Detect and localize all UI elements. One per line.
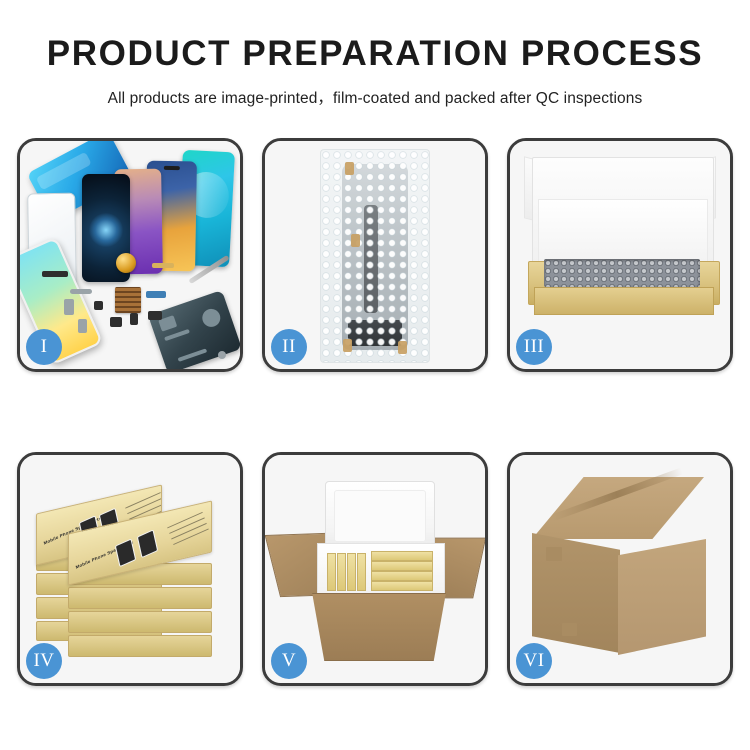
carton-right-face <box>618 539 706 655</box>
process-step-panel-1: I <box>17 138 243 372</box>
phone-back-housing-icon <box>148 290 240 369</box>
box-stack-edge-front-4 <box>68 611 212 633</box>
step-badge-5: V <box>271 643 307 679</box>
part-chip-3 <box>130 313 138 325</box>
part-bracket <box>78 319 87 333</box>
step-badge-4: IV <box>26 643 62 679</box>
carton-tab-upper <box>546 547 562 561</box>
process-step-panel-2: II <box>262 138 488 372</box>
retail-box-v-4 <box>357 553 366 591</box>
retail-box-v-2 <box>337 553 346 591</box>
bubble-texture <box>321 150 429 362</box>
box-stack-edge-front-5 <box>68 635 212 657</box>
part-strip-1 <box>42 271 68 277</box>
product-preparation-infographic: PRODUCT PREPARATION PROCESS All products… <box>0 0 750 750</box>
retail-box-v-1 <box>327 553 336 591</box>
yellow-box-front <box>534 287 714 315</box>
part-speaker <box>148 311 162 320</box>
tape-seal-top <box>345 162 354 175</box>
retail-box-h-3 <box>371 571 433 581</box>
step-badge-1: I <box>26 329 62 365</box>
process-step-panel-3: III <box>507 138 733 372</box>
step-badge-2: II <box>271 329 307 365</box>
chip-grid-icon <box>115 287 141 313</box>
tape-seal-bottom-left <box>343 339 352 352</box>
process-step-panel-4: Mobile Phone Spare Parts <box>17 452 243 686</box>
page-header: PRODUCT PREPARATION PROCESS All products… <box>0 0 750 108</box>
part-flex-cable-1 <box>70 289 92 294</box>
part-chip-2 <box>110 317 122 327</box>
retail-boxes-inside <box>325 549 433 593</box>
step-badge-3: III <box>516 329 552 365</box>
retail-box-h-1 <box>371 551 433 561</box>
page-title: PRODUCT PREPARATION PROCESS <box>0 36 750 71</box>
part-screw-set <box>218 351 226 359</box>
tape-seal-middle <box>351 234 360 247</box>
part-chip-1 <box>94 301 103 310</box>
carton-top-face <box>532 477 704 539</box>
box-thumbnail-front-2 <box>137 529 158 558</box>
part-strip-gold <box>152 263 174 268</box>
process-step-panel-5: V <box>262 452 488 686</box>
retail-box-h-2 <box>371 561 433 571</box>
white-foam-liner <box>538 199 708 267</box>
stacked-retail-boxes: Mobile Phone Spare Parts <box>32 473 232 663</box>
carton-body <box>303 593 455 661</box>
part-flex-cable-2 <box>64 299 74 315</box>
retail-box-h-4 <box>371 581 433 591</box>
process-step-panel-6: VI <box>507 452 733 686</box>
tape-seal-bottom-right <box>398 341 407 354</box>
bubble-wrap-bag-icon <box>320 149 430 363</box>
box-stack-edge-front-3 <box>68 587 212 609</box>
step-badge-6: VI <box>516 643 552 679</box>
carton-tab-lower <box>562 623 577 636</box>
part-connector-blue <box>146 291 166 298</box>
grey-bubble-wrap <box>544 259 700 287</box>
retail-box-v-3 <box>347 553 356 591</box>
page-subtitle: All products are image-printed，film-coat… <box>0 86 750 108</box>
process-steps-grid: I II <box>17 138 733 686</box>
copper-coil-icon <box>116 253 136 273</box>
